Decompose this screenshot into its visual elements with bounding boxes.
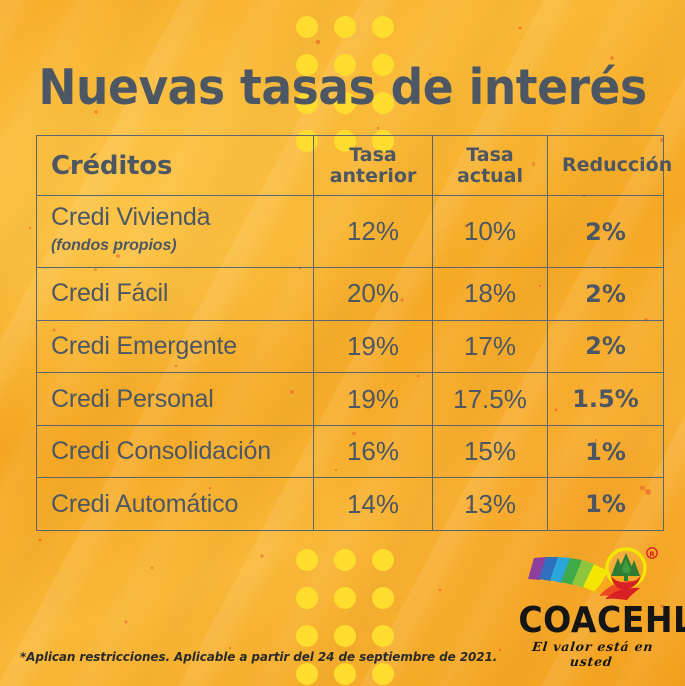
row-current-rate: 15%	[433, 425, 548, 478]
column-header-credits: Créditos	[37, 136, 314, 196]
column-header-current-rate-line2: actual	[447, 166, 533, 187]
row-current-rate: 17.5%	[433, 373, 548, 426]
row-current-rate: 13%	[433, 478, 548, 531]
row-current-rate: 17%	[433, 320, 548, 373]
dot	[372, 549, 394, 571]
dot	[334, 625, 356, 647]
logo-wordmark: COACEHL	[518, 602, 665, 640]
dot	[296, 587, 318, 609]
row-previous-rate: 12%	[314, 196, 433, 268]
dot	[334, 587, 356, 609]
dot	[372, 16, 394, 38]
row-previous-rate: 20%	[314, 268, 433, 321]
interest-rates-table: Créditos Tasa anterior Tasa actual Reduc…	[36, 135, 664, 531]
row-reduction: 1%	[548, 478, 664, 531]
dot	[334, 549, 356, 571]
dot	[334, 16, 356, 38]
row-credit-name: Credi Emergente	[37, 320, 314, 373]
table-header-row: Créditos Tasa anterior Tasa actual Reduc…	[37, 136, 664, 196]
table-row: Credi Consolidación 16% 15% 1%	[37, 425, 664, 478]
row-previous-rate: 14%	[314, 478, 433, 531]
row-credit-name: Credi Vivienda (fondos propios)	[37, 196, 314, 268]
row-previous-rate: 19%	[314, 373, 433, 426]
table-row: Credi Automático 14% 13% 1%	[37, 478, 664, 531]
row-reduction: 1%	[548, 425, 664, 478]
dot	[296, 625, 318, 647]
logo-emblem-icon: R	[522, 546, 662, 602]
logo-tagline: El valor está en usted	[510, 639, 673, 669]
table-row: Credi Personal 19% 17.5% 1.5%	[37, 373, 664, 426]
table-row: Credi Emergente 19% 17% 2%	[37, 320, 664, 373]
decorative-dot-grid-bottom	[296, 549, 394, 685]
row-credit-name-text: Credi Vivienda	[51, 203, 210, 231]
dot	[334, 663, 356, 685]
row-credit-name: Credi Automático	[37, 478, 314, 531]
dot	[296, 549, 318, 571]
dot	[296, 663, 318, 685]
row-current-rate: 18%	[433, 268, 548, 321]
row-reduction: 1.5%	[548, 373, 664, 426]
legal-footnote: *Aplican restricciones. Aplicable a part…	[20, 650, 497, 664]
column-header-previous-rate: Tasa anterior	[314, 136, 433, 196]
dot	[296, 16, 318, 38]
page-title: Nuevas tasas de interés	[24, 60, 661, 116]
column-header-current-rate-line1: Tasa	[447, 145, 533, 166]
row-credit-name: Credi Personal	[37, 373, 314, 426]
dot	[372, 625, 394, 647]
row-previous-rate: 16%	[314, 425, 433, 478]
table-row: Credi Fácil 20% 18% 2%	[37, 268, 664, 321]
column-header-reduction: Reducción	[548, 136, 664, 196]
column-header-previous-rate-line1: Tasa	[328, 145, 418, 166]
row-reduction: 2%	[548, 196, 664, 268]
poster-canvas: Nuevas tasas de interés Créditos Tasa an…	[0, 0, 685, 686]
table-body: Credi Vivienda (fondos propios) 12% 10% …	[37, 196, 664, 531]
table-header: Créditos Tasa anterior Tasa actual Reduc…	[37, 136, 664, 196]
dot	[372, 663, 394, 685]
coacehl-logo: R COACEHL El valor está en usted	[512, 546, 672, 654]
row-reduction: 2%	[548, 268, 664, 321]
row-credit-name: Credi Fácil	[37, 268, 314, 321]
column-header-previous-rate-line2: anterior	[328, 166, 418, 187]
row-previous-rate: 19%	[314, 320, 433, 373]
table-row: Credi Vivienda (fondos propios) 12% 10% …	[37, 196, 664, 268]
column-header-current-rate: Tasa actual	[433, 136, 548, 196]
dot	[372, 587, 394, 609]
svg-text:R: R	[649, 550, 655, 558]
row-current-rate: 10%	[433, 196, 548, 268]
row-reduction: 2%	[548, 320, 664, 373]
row-credit-name: Credi Consolidación	[37, 425, 314, 478]
row-credit-name-note: (fondos propios)	[51, 232, 299, 259]
